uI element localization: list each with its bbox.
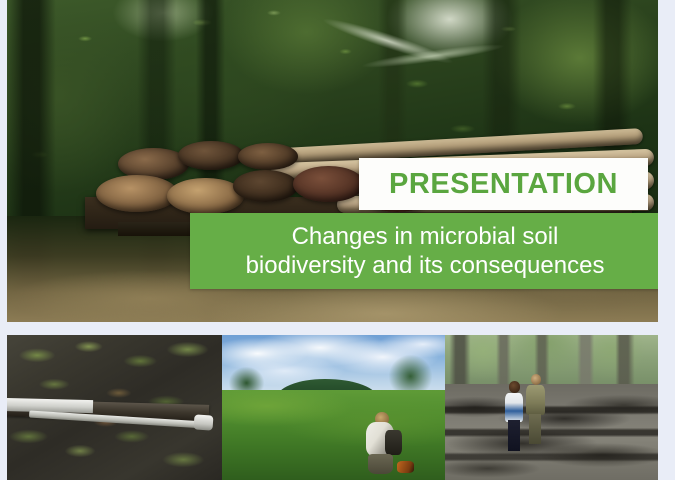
- person-legs: [529, 414, 541, 444]
- presentation-title-line-1: Changes in microbial soil: [292, 222, 559, 251]
- soil-corer-handle: [7, 398, 93, 413]
- hero-photo: PRESENTATION Changes in microbial soil b…: [7, 0, 658, 322]
- presentation-kicker-label: PRESENTATION: [389, 170, 618, 199]
- person-shirt: [526, 385, 544, 416]
- kneeling-researcher: [363, 410, 401, 474]
- clearing-person-foreground: [505, 381, 524, 451]
- field-equipment-bag: [397, 461, 414, 472]
- log-cut-end: [293, 166, 364, 203]
- log-cut-end: [96, 175, 178, 212]
- thumbnail-strip: [7, 335, 658, 480]
- clearing-person-background: [526, 374, 545, 444]
- log-cut-end: [178, 141, 244, 170]
- thumbnail-soil-core: [7, 335, 222, 480]
- person-shirt: [505, 393, 523, 422]
- researcher-backpack: [385, 430, 402, 456]
- presentation-title-banner: Changes in microbial soil biodiversity a…: [190, 213, 658, 289]
- person-legs: [508, 420, 520, 451]
- soil-corer-tip: [194, 414, 214, 430]
- person-head: [509, 381, 520, 392]
- charred-fallen-logs: [445, 393, 658, 480]
- thumbnail-burned-clearing: [445, 335, 658, 480]
- presentation-kicker-banner: PRESENTATION: [359, 158, 648, 210]
- thumbnail-field-researcher: [222, 335, 445, 480]
- presentation-slide: PRESENTATION Changes in microbial soil b…: [0, 0, 675, 480]
- presentation-title-line-2: biodiversity and its consequences: [246, 251, 605, 280]
- person-head: [531, 374, 541, 384]
- researcher-legs: [368, 454, 393, 474]
